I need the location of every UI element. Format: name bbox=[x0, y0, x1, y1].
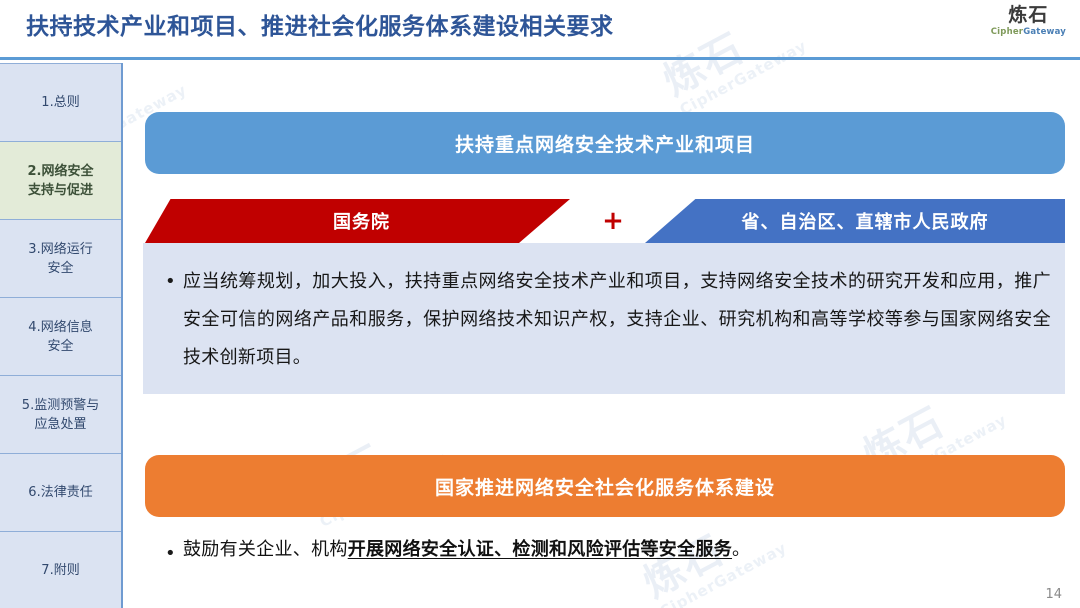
slide-header: 扶持技术产业和项目、推进社会化服务体系建设相关要求 bbox=[0, 0, 1080, 60]
provision-list: • 应当统筹规划，加大投入，扶持重点网络安全技术产业和项目，支持网络安全技术的研… bbox=[161, 263, 1051, 377]
banner-support-industry: 扶持重点网络安全技术产业和项目 bbox=[145, 112, 1065, 174]
plus-icon: + bbox=[593, 199, 633, 243]
chevron-right-label: 省、自治区、直辖市人民政府 bbox=[742, 208, 989, 234]
page-number: 14 bbox=[1045, 587, 1062, 602]
bullet-marker-icon: • bbox=[161, 263, 183, 301]
provision-paragraph: 应当统筹规划，加大投入，扶持重点网络安全技术产业和项目，支持网络安全技术的研究开… bbox=[183, 263, 1051, 377]
chevron-state-council: 国务院 bbox=[145, 199, 570, 243]
brand-logo-en-gateway: Gateway bbox=[1023, 27, 1066, 37]
slide-content: 扶持重点网络安全技术产业和项目 国务院 + 省、自治区、直辖市人民政府 • 应当… bbox=[0, 0, 1080, 608]
bullet-marker-icon: • bbox=[161, 535, 183, 573]
provision-panel: • 应当统筹规划，加大投入，扶持重点网络安全技术产业和项目，支持网络安全技术的研… bbox=[143, 243, 1065, 394]
bottom-text-emphasis: 开展网络安全认证、检测和风险评估等安全服务 bbox=[348, 539, 732, 560]
bottom-provision-text: 鼓励有关企业、机构开展网络安全认证、检测和风险评估等安全服务。 bbox=[183, 535, 1051, 565]
brand-logo: 炼石 CipherGateway bbox=[991, 6, 1066, 37]
bottom-text-prefix: 鼓励有关企业、机构 bbox=[183, 539, 348, 560]
chevron-left-label: 国务院 bbox=[333, 208, 390, 234]
banner-socialized-services: 国家推进网络安全社会化服务体系建设 bbox=[145, 455, 1065, 517]
authority-chevron-row: 国务院 + 省、自治区、直辖市人民政府 bbox=[145, 199, 1065, 243]
header-divider bbox=[0, 57, 1080, 60]
list-item: • 鼓励有关企业、机构开展网络安全认证、检测和风险评估等安全服务。 bbox=[161, 535, 1051, 573]
bottom-text-suffix: 。 bbox=[732, 539, 750, 560]
slide-root: 炼石 CipherGateway 炼石 CipherGateway 炼石 Cip… bbox=[0, 0, 1080, 608]
list-item: • 应当统筹规划，加大投入，扶持重点网络安全技术产业和项目，支持网络安全技术的研… bbox=[161, 263, 1051, 377]
brand-logo-en: CipherGateway bbox=[991, 28, 1066, 37]
banner-blue-label: 扶持重点网络安全技术产业和项目 bbox=[455, 130, 755, 157]
page-title: 扶持技术产业和项目、推进社会化服务体系建设相关要求 bbox=[26, 10, 614, 44]
chevron-provincial-government: 省、自治区、直辖市人民政府 bbox=[645, 199, 1065, 243]
brand-logo-en-cipher: Cipher bbox=[991, 27, 1023, 37]
brand-logo-cn: 炼石 bbox=[991, 6, 1066, 25]
banner-orange-label: 国家推进网络安全社会化服务体系建设 bbox=[435, 473, 775, 500]
